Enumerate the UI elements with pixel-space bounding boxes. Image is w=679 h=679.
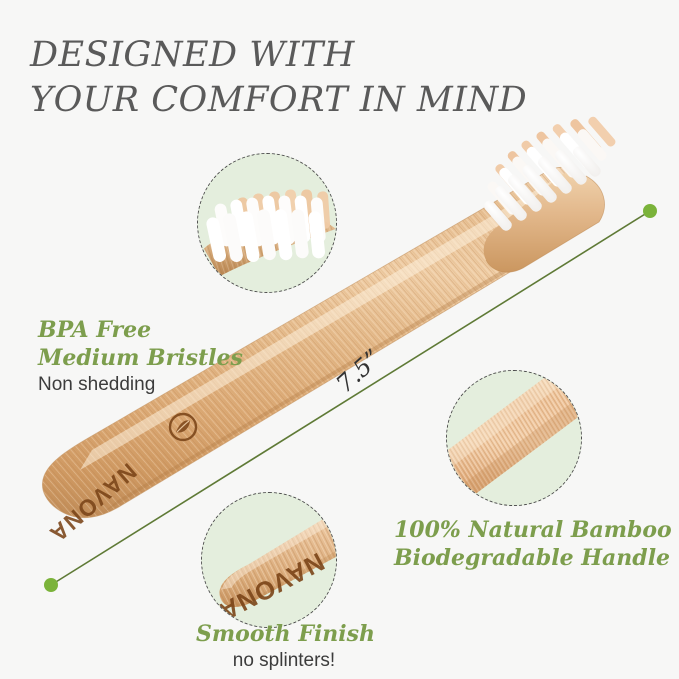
feature-bristles-title-1: BPA Free: [38, 316, 243, 344]
bristles-zoom-art: [198, 154, 336, 292]
handle-tip-zoom-art: NAVONA: [202, 493, 336, 627]
bamboo-grain-zoom-art: [447, 371, 581, 505]
feature-smooth-subtitle: no splinters!: [196, 648, 372, 674]
brush-head: [482, 115, 617, 272]
bamboo-grain-zoom-circle: [446, 370, 582, 506]
feature-bristles-subtitle: Non shedding: [38, 372, 243, 398]
feature-bristles-title-2: Medium Bristles: [38, 344, 243, 372]
feature-bristles: BPA Free Medium Bristles Non shedding: [38, 316, 243, 398]
feature-bamboo-title-1: 100% Natural Bamboo: [394, 516, 672, 544]
feature-smooth-finish: Smooth Finish no splinters!: [196, 620, 372, 674]
bristles-zoom-circle: [197, 153, 337, 293]
feature-bamboo-title-2: Biodegradable Handle: [394, 544, 672, 572]
feature-smooth-title: Smooth Finish: [196, 620, 372, 648]
infographic-canvas: DESIGNED WITH YOUR COMFORT IN MIND: [0, 0, 679, 679]
feature-bamboo-handle: 100% Natural Bamboo Biodegradable Handle: [394, 516, 672, 572]
handle-tip-zoom-circle: NAVONA: [201, 492, 337, 628]
